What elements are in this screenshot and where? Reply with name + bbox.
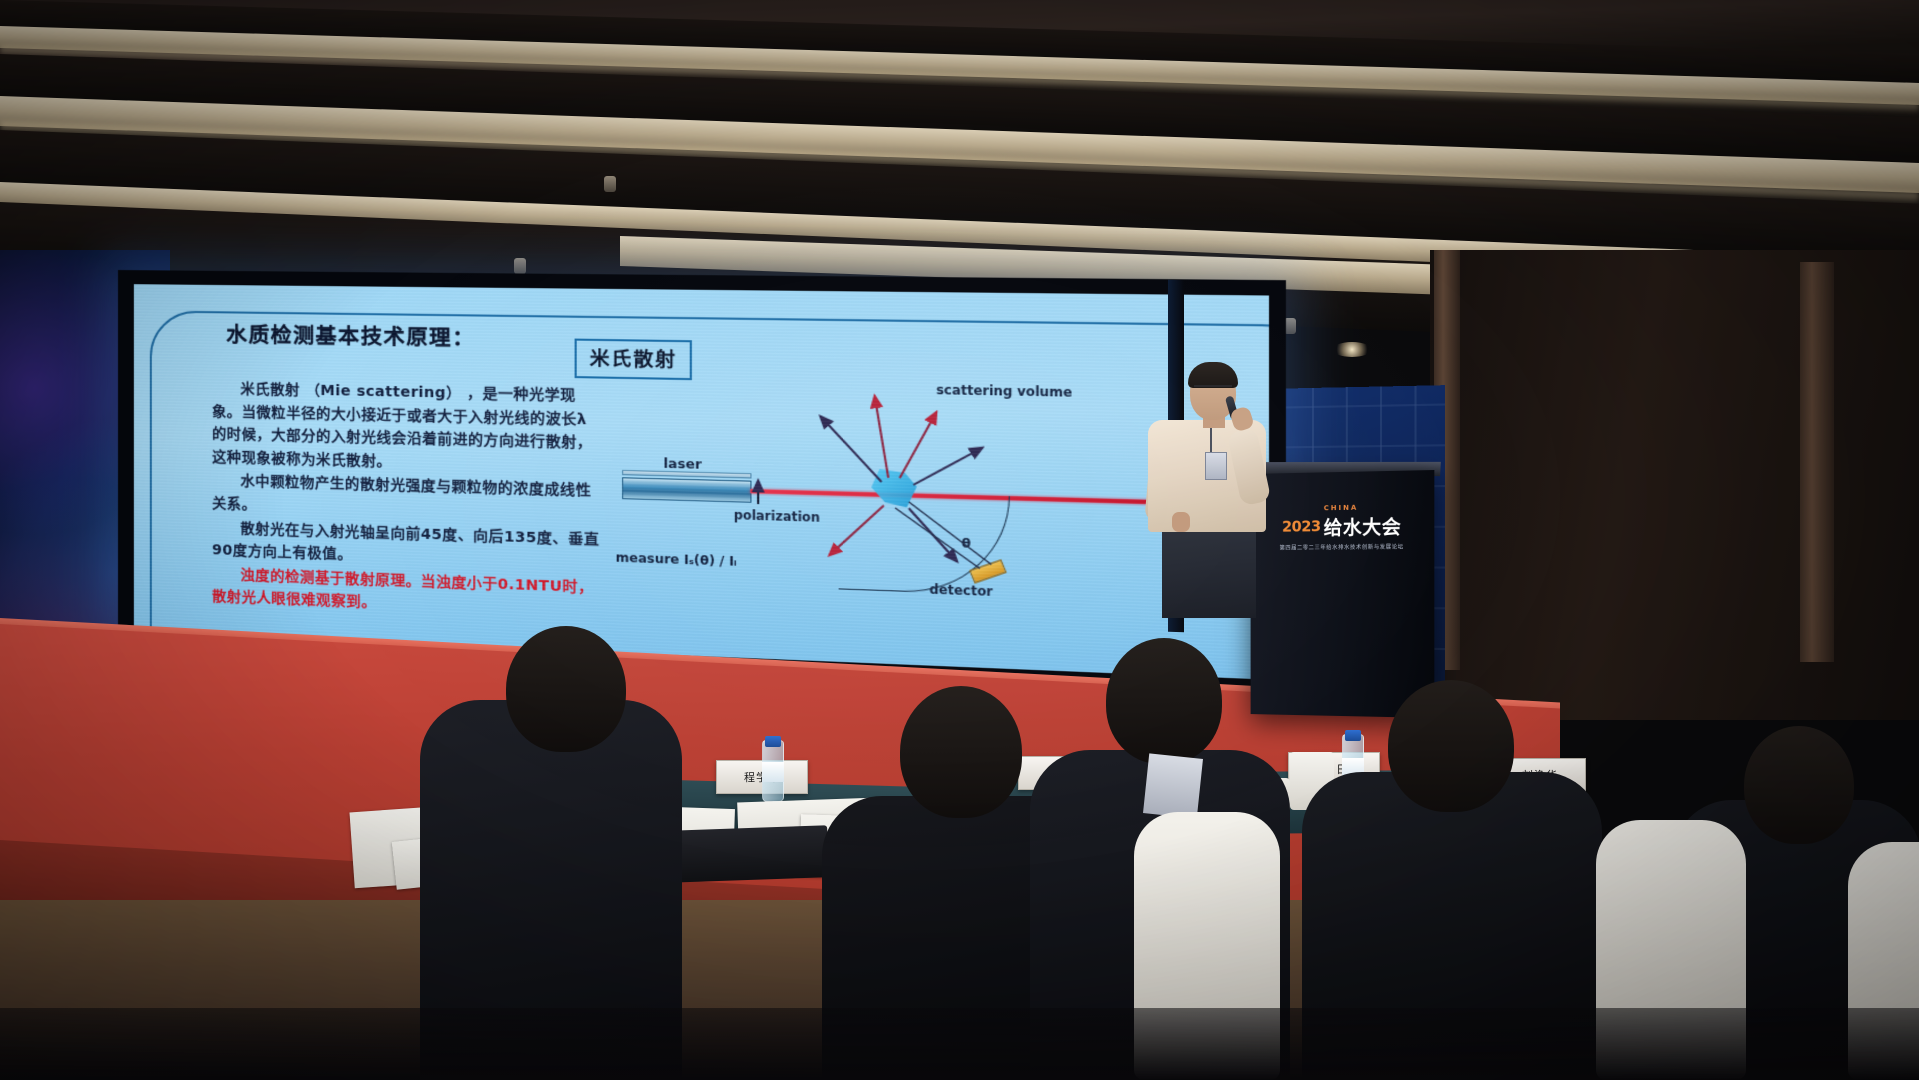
conference-photo-scene: 水质检测基本技术原理： 米氏散射 米氏散射 （Mie scattering） ，… (0, 0, 1919, 1080)
laptop-1 (667, 825, 829, 883)
speaker-lanyard (1210, 428, 1212, 454)
bottom-dark-foreground (0, 1008, 1919, 1080)
podium-banner-main: 2023 给水大会 (1282, 512, 1401, 540)
ceiling-speaker-1 (604, 176, 616, 192)
audience-person-4-head (1388, 680, 1514, 812)
wall-panel-right (1430, 250, 1919, 720)
podium-banner-title: 给水大会 (1324, 512, 1402, 540)
presentation-slide: 水质检测基本技术原理： 米氏散射 米氏散射 （Mie scattering） ，… (134, 284, 1269, 679)
podium: CHINA 2023 给水大会 第四届二零二三年给水排水技术创新与发展论坛 (1251, 470, 1435, 718)
audience-person-5-head (1744, 726, 1854, 844)
audience-person-1-head (506, 626, 626, 752)
speaker-name-badge (1205, 452, 1227, 480)
speaker-glasses-icon (1194, 385, 1232, 393)
water-bottle-2-cap (1345, 730, 1361, 741)
audience-person-3-head (1106, 638, 1222, 764)
slide-body-text: 米氏散射 （Mie scattering） ，是一种光学现象。当微粒半径的大小接… (212, 378, 600, 625)
podium-banner: CHINA 2023 给水大会 第四届二零二三年给水排水技术创新与发展论坛 (1264, 489, 1420, 565)
podium-banner-year: 2023 (1282, 520, 1321, 533)
slide-paragraph-1: 米氏散射 （Mie scattering） ，是一种光学现象。当微粒半径的大小接… (212, 378, 600, 479)
podium-banner-small-text: CHINA (1324, 503, 1358, 512)
ceiling-speaker-2 (514, 258, 526, 274)
audience-person-2-head (900, 686, 1022, 818)
water-bottle-1-cap (765, 736, 781, 747)
speaker-left-hand (1172, 512, 1190, 532)
podium-banner-subtitle: 第四届二零二三年给水排水技术创新与发展论坛 (1280, 542, 1404, 551)
projection-screen: 水质检测基本技术原理： 米氏散射 米氏散射 （Mie scattering） ，… (118, 270, 1286, 691)
wall-pillar-far-right (1800, 262, 1834, 662)
water-bottle-1-label (762, 762, 784, 782)
slide-title: 水质检测基本技术原理： (226, 317, 475, 351)
ceiling-downlight-2 (1332, 342, 1372, 357)
audience-person-3-lanyard (1143, 753, 1203, 818)
